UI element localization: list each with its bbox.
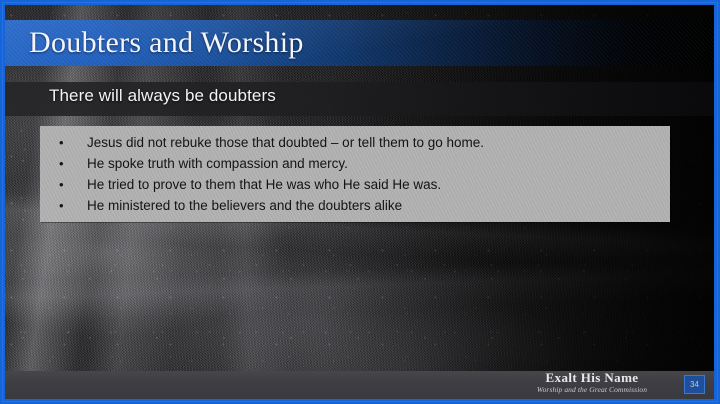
list-item-label: He tried to prove to them that He was wh… bbox=[87, 174, 441, 195]
footer-brand-subtitle: Worship and the Great Commission bbox=[518, 385, 666, 395]
list-item-label: Jesus did not rebuke those that doubted … bbox=[87, 132, 484, 153]
bullet-point-icon: • bbox=[54, 195, 87, 216]
bullet-point-icon: • bbox=[54, 174, 87, 195]
bullet-point-icon: • bbox=[54, 132, 87, 153]
list-item: • Jesus did not rebuke those that doubte… bbox=[54, 132, 660, 153]
title-bar: Doubters and Worship bbox=[5, 20, 714, 66]
list-item: • He tried to prove to them that He was … bbox=[54, 174, 660, 195]
list-item-label: He spoke truth with compassion and mercy… bbox=[87, 153, 348, 174]
footer-brand-title: Exalt His Name bbox=[518, 371, 666, 385]
slide-subheading: There will always be doubters bbox=[49, 86, 276, 106]
slide-title: Doubters and Worship bbox=[5, 20, 714, 66]
slide-outer-frame: Doubters and Worship There will always b… bbox=[0, 0, 720, 404]
page-number-badge: 34 bbox=[684, 375, 705, 394]
footer-branding: Exalt His Name Worship and the Great Com… bbox=[518, 371, 666, 395]
page-number-label: 34 bbox=[690, 381, 699, 389]
bullet-list-box: • Jesus did not rebuke those that doubte… bbox=[40, 126, 670, 222]
list-item: • He spoke truth with compassion and mer… bbox=[54, 153, 660, 174]
bullet-point-icon: • bbox=[54, 153, 87, 174]
list-item-label: He ministered to the believers and the d… bbox=[87, 195, 402, 216]
list-item: • He ministered to the believers and the… bbox=[54, 195, 660, 216]
slide-canvas: Doubters and Worship There will always b… bbox=[5, 5, 714, 399]
slide-footer-bar: Exalt His Name Worship and the Great Com… bbox=[5, 371, 714, 399]
